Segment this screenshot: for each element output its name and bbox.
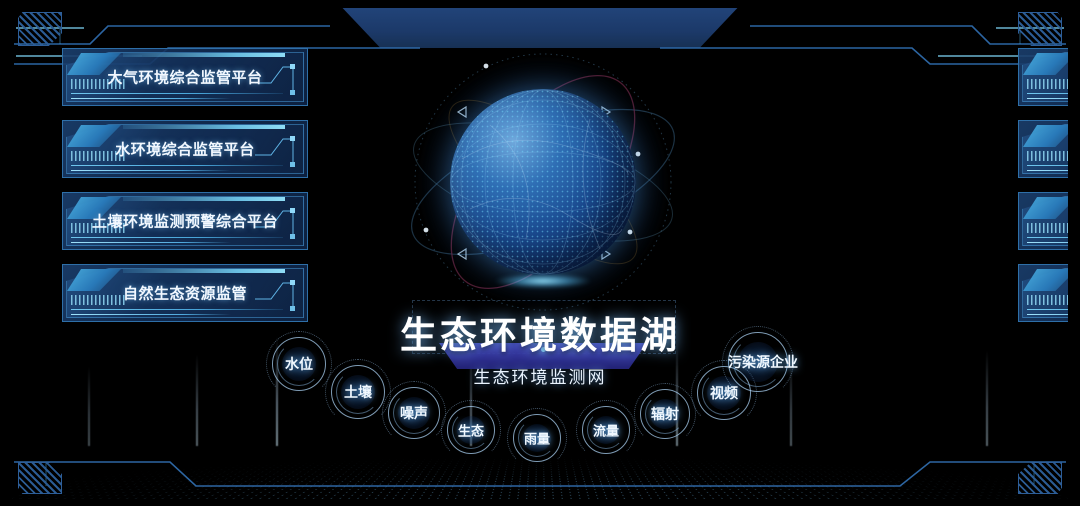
node-label: 生态: [447, 421, 495, 440]
nav-panel-label: 自然生态资源监管: [63, 283, 307, 304]
nav-panel-left-3[interactable]: 自然生态资源监管: [62, 264, 308, 322]
letterbox-bottom: [0, 501, 1080, 506]
letterbox-top: [0, 0, 1080, 5]
node-label: 土壤: [331, 382, 385, 402]
data-node-3[interactable]: 生态: [447, 406, 495, 454]
dashboard-stage: 生态环境数据湖 生态环境监测网 大气环境综合监管平台水环境综合监管平台土壤环境监…: [0, 0, 1080, 506]
node-label: 辐射: [640, 404, 690, 424]
node-label: 噪声: [388, 403, 440, 423]
hatch-corner-icon: [18, 12, 62, 46]
hatch-corner-icon: [1018, 12, 1062, 46]
hatch-corner-icon: [18, 462, 62, 494]
nav-panel-left-1[interactable]: 水环境综合监管平台: [62, 120, 308, 178]
data-node-6[interactable]: 辐射: [640, 389, 690, 439]
nav-panel-label: 大气环境综合监管平台: [63, 67, 307, 88]
nav-panel-left-0[interactable]: 大气环境综合监管平台: [62, 48, 308, 106]
node-label: 水位: [272, 354, 326, 374]
panel-underline-1: [71, 309, 283, 311]
panel-underline-2: [71, 242, 231, 244]
panel-underline-1: [71, 237, 283, 239]
data-node-4[interactable]: 雨量: [513, 414, 561, 462]
nav-panel-left-2[interactable]: 土壤环境监测预警综合平台: [62, 192, 308, 250]
nav-panel-label: 土壤环境监测预警综合平台: [63, 211, 307, 232]
panel-underline-1: [71, 93, 283, 95]
data-node-5[interactable]: 流量: [582, 406, 630, 454]
globe-icon: [398, 42, 688, 322]
panel-underline-2: [71, 314, 231, 316]
panel-underline-2: [71, 98, 231, 100]
panel-underline-2: [71, 170, 231, 172]
node-label: 雨量: [513, 429, 561, 448]
panel-underline-1: [71, 165, 283, 167]
data-node-8[interactable]: 污染源企业: [728, 332, 788, 392]
nav-panel-label: 水环境综合监管平台: [63, 139, 307, 160]
node-label: 污染源企业: [728, 352, 788, 372]
letterbox-left: [0, 0, 12, 506]
data-node-0[interactable]: 水位: [272, 337, 326, 391]
page-subtitle: 生态环境监测网: [0, 363, 1080, 388]
letterbox-right: [1068, 0, 1080, 506]
node-label: 流量: [582, 421, 630, 440]
data-node-1[interactable]: 土壤: [331, 365, 385, 419]
hatch-corner-icon: [1018, 462, 1062, 494]
data-node-2[interactable]: 噪声: [388, 387, 440, 439]
